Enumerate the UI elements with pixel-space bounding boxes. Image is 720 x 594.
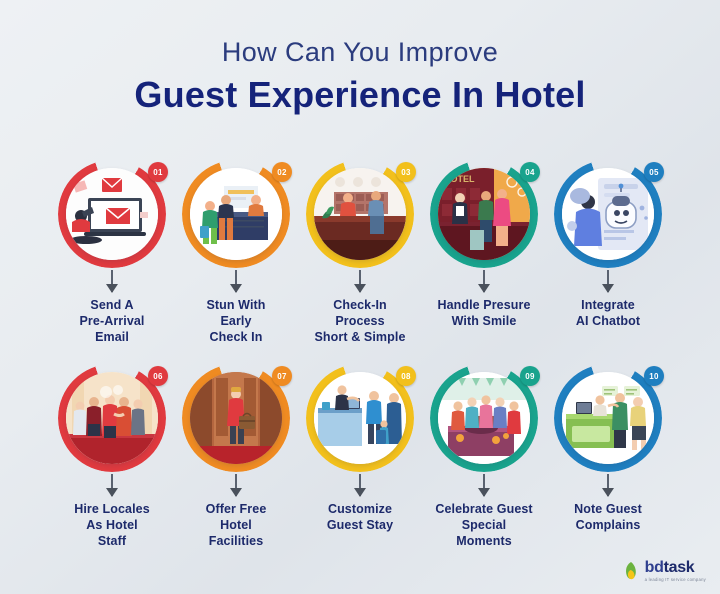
step-number: 03 [401,168,411,177]
step-label-line: Short & Simple [298,329,422,345]
step-label-line: Staff [50,533,174,549]
page-title: How Can You Improve Guest Experience In … [0,38,720,115]
brand-logo[interactable]: bdtask a leading IT service company [624,560,706,582]
step-illustration [190,168,282,260]
title-line-1: How Can You Improve [0,38,720,68]
step-number: 10 [649,372,659,381]
step-label-line: Check-In [298,297,422,313]
leaf-icon [624,561,641,581]
step-ring[interactable]: 08 [306,364,414,472]
step-label-line: Process [298,313,422,329]
title-line-2: Guest Experience In Hotel [0,74,720,115]
step-item[interactable]: 06Hire LocalesAs HotelStaff [56,364,168,549]
step-ring[interactable]: 02 [182,160,290,268]
step-label-line: Celebrate Guest [422,501,546,517]
step-illustration [190,372,282,464]
step-ring[interactable]: 03 [306,160,414,268]
step-number-badge: 06 [148,366,168,386]
infographic-poster: How Can You Improve Guest Experience In … [0,0,720,594]
step-label: Handle PresureWith Smile [422,297,546,329]
step-label-line: As Hotel [50,517,174,533]
step-number-badge: 08 [396,366,416,386]
step-item[interactable]: 03Check-InProcessShort & Simple [304,160,416,345]
logo-name-part1: bd [645,559,664,576]
step-label-line: Note Guest [546,501,670,517]
step-label: Check-InProcessShort & Simple [298,297,422,345]
step-ring[interactable]: 10 [554,364,662,472]
steps-row-2: 06Hire LocalesAs HotelStaff 07Offer Free… [0,364,720,549]
step-number-badge: 03 [396,162,416,182]
step-illustration [66,372,158,464]
step-label: Hire LocalesAs HotelStaff [50,501,174,549]
step-number: 02 [277,168,287,177]
step-label-line: Send A [50,297,174,313]
steps-row-1: 01Send APre-ArrivalEmail 02Stun WithEarl… [0,160,720,345]
step-label-line: Integrate [546,297,670,313]
step-ring[interactable]: 01 [58,160,166,268]
step-label: Note GuestComplains [546,501,670,533]
step-number: 08 [401,372,411,381]
step-label: Send APre-ArrivalEmail [50,297,174,345]
step-illustration [314,168,406,260]
step-item[interactable]: 10Note GuestComplains [552,364,664,549]
step-item[interactable]: 05IntegrateAI Chatbot [552,160,664,345]
step-illustration: HOTEL [438,168,530,260]
step-label-line: Moments [422,533,546,549]
step-label-line: Check In [174,329,298,345]
step-number: 04 [525,168,535,177]
step-label-line: Early [174,313,298,329]
step-item[interactable]: 01Send APre-ArrivalEmail [56,160,168,345]
step-label-line: Complains [546,517,670,533]
step-label-line: AI Chatbot [546,313,670,329]
step-label-line: Handle Presure [422,297,546,313]
step-illustration [314,372,406,464]
step-illustration [562,168,654,260]
step-number-badge: 02 [272,162,292,182]
step-item[interactable]: 08CustomizeGuest Stay [304,364,416,549]
step-label-line: With Smile [422,313,546,329]
step-illustration [562,372,654,464]
connector-arrow [235,270,237,292]
step-ring[interactable]: 09 [430,364,538,472]
step-label-line: Hotel [174,517,298,533]
step-number-badge: 10 [644,366,664,386]
step-ring[interactable]: 06 [58,364,166,472]
step-illustration [438,372,530,464]
step-label: Stun WithEarlyCheck In [174,297,298,345]
step-label-line: Facilities [174,533,298,549]
step-label-line: Stun With [174,297,298,313]
svg-text:HOTEL: HOTEL [444,174,475,184]
step-label-line: Pre-Arrival [50,313,174,329]
step-label-line: Offer Free [174,501,298,517]
step-ring[interactable]: HOTEL 04 [430,160,538,268]
connector-arrow [111,270,113,292]
connector-arrow [607,270,609,292]
step-label-line: Hire Locales [50,501,174,517]
step-ring[interactable]: 07 [182,364,290,472]
step-item[interactable]: HOTEL 04Handle PresureWith Smile [428,160,540,345]
step-number: 06 [153,372,163,381]
connector-arrow [235,474,237,496]
step-item[interactable]: 02Stun WithEarlyCheck In [180,160,292,345]
step-label-line: Special [422,517,546,533]
connector-arrow [359,474,361,496]
step-ring[interactable]: 05 [554,160,662,268]
step-number: 05 [649,168,659,177]
connector-arrow [483,474,485,496]
step-label: Celebrate GuestSpecialMoments [422,501,546,549]
connector-arrow [607,474,609,496]
step-label: CustomizeGuest Stay [298,501,422,533]
step-number-badge: 04 [520,162,540,182]
step-number-badge: 01 [148,162,168,182]
step-label-line: Customize [298,501,422,517]
step-item[interactable]: 07Offer FreeHotelFacilities [180,364,292,549]
connector-arrow [111,474,113,496]
step-number-badge: 05 [644,162,664,182]
connector-arrow [359,270,361,292]
step-label: IntegrateAI Chatbot [546,297,670,329]
step-label-line: Email [50,329,174,345]
step-number: 09 [525,372,535,381]
step-number-badge: 09 [520,366,540,386]
logo-name-part2: task [664,559,695,576]
step-label: Offer FreeHotelFacilities [174,501,298,549]
step-number: 07 [277,372,287,381]
step-number-badge: 07 [272,366,292,386]
step-number: 01 [153,168,163,177]
logo-tagline: a leading IT service company [645,578,706,582]
step-illustration [66,168,158,260]
step-label-line: Guest Stay [298,517,422,533]
connector-arrow [483,270,485,292]
step-item[interactable]: 09Celebrate GuestSpecialMoments [428,364,540,549]
